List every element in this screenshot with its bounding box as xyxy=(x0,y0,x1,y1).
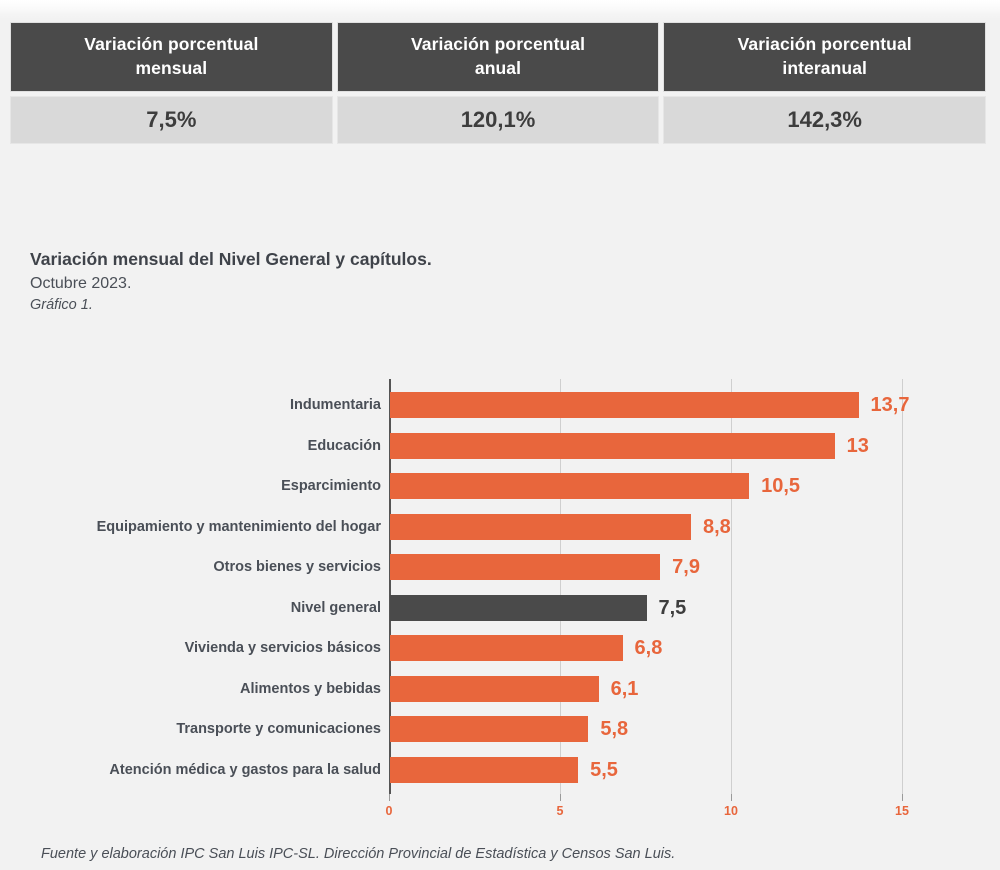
chart-bar-value-label: 10,5 xyxy=(761,476,800,496)
chart-bar xyxy=(390,757,578,783)
chart-bar-row: Vivienda y servicios básicos6,8 xyxy=(0,628,1000,669)
chart-bar-value-label: 7,5 xyxy=(659,598,687,618)
chart-bar-row: Esparcimiento10,5 xyxy=(0,466,1000,507)
summary-value-label: 7,5% xyxy=(146,107,196,133)
summary-header-cell-mensual: Variación porcentual mensual xyxy=(10,22,333,92)
chart-x-tick-label: 10 xyxy=(724,805,738,818)
chart-bar-row: Equipamiento y mantenimiento del hogar8,… xyxy=(0,507,1000,548)
summary-table: Variación porcentual mensual Variación p… xyxy=(10,22,986,144)
chart-x-axis: 051015 xyxy=(389,794,909,820)
chart-category-label: Nivel general xyxy=(0,601,381,616)
chart-bar-value-label: 8,8 xyxy=(703,517,731,537)
summary-table-header-row: Variación porcentual mensual Variación p… xyxy=(10,22,986,92)
chart-bar-value-label: 7,9 xyxy=(672,557,700,577)
chart-title: Variación mensual del Nivel General y ca… xyxy=(30,249,730,270)
chart-bar-value-label: 6,8 xyxy=(635,638,663,658)
chart-x-tick-mark xyxy=(560,794,561,801)
chart-bar xyxy=(390,392,859,418)
chart-bar-row: Alimentos y bebidas6,1 xyxy=(0,669,1000,710)
summary-header-label: Variación porcentual anual xyxy=(411,33,585,80)
chart-x-tick-label: 5 xyxy=(557,805,564,818)
chart-x-tick-label: 15 xyxy=(895,805,909,818)
chart-bar xyxy=(390,635,623,661)
chart-bar-row: Transporte y comunicaciones5,8 xyxy=(0,709,1000,750)
chart-heading: Variación mensual del Nivel General y ca… xyxy=(30,249,730,314)
chart-bar-value-label: 13 xyxy=(847,436,869,456)
chart-x-tick-mark xyxy=(389,794,390,801)
chart-x-tick-label: 0 xyxy=(386,805,393,818)
chart-bar-row: Atención médica y gastos para la salud5,… xyxy=(0,750,1000,791)
chart-bar xyxy=(390,676,599,702)
chart-bar-value-label: 6,1 xyxy=(611,679,639,699)
chart-x-tick-mark xyxy=(902,794,903,801)
summary-table-value-row: 7,5% 120,1% 142,3% xyxy=(10,96,986,144)
summary-header-label: Variación porcentual interanual xyxy=(738,33,912,80)
summary-value-cell-interanual: 142,3% xyxy=(663,96,986,144)
chart-bar xyxy=(390,514,691,540)
chart-bar xyxy=(390,554,660,580)
summary-value-cell-anual: 120,1% xyxy=(337,96,660,144)
summary-header-label: Variación porcentual mensual xyxy=(84,33,258,80)
chart-bar-row: Educación13 xyxy=(0,426,1000,467)
chart-bar xyxy=(390,433,835,459)
chart-bar-value-label: 5,8 xyxy=(600,719,628,739)
chart-x-tick-mark xyxy=(731,794,732,801)
chart-bar-row: Indumentaria13,7 xyxy=(0,385,1000,426)
chart-category-label: Esparcimiento xyxy=(0,479,381,494)
chart-category-label: Transporte y comunicaciones xyxy=(0,722,381,737)
summary-value-label: 142,3% xyxy=(787,107,862,133)
chart-bar-row: Nivel general7,5 xyxy=(0,588,1000,629)
chart-category-label: Vivienda y servicios básicos xyxy=(0,641,381,656)
summary-header-cell-interanual: Variación porcentual interanual xyxy=(663,22,986,92)
chart-category-label: Indumentaria xyxy=(0,398,381,413)
chart-figure-label: Gráfico 1. xyxy=(30,297,730,314)
chart-bar-value-label: 5,5 xyxy=(590,760,618,780)
summary-value-cell-mensual: 7,5% xyxy=(10,96,333,144)
page-top-gradient xyxy=(0,0,1000,20)
chart-subtitle: Octubre 2023. xyxy=(30,274,730,294)
chart-bar-value-label: 13,7 xyxy=(871,395,910,415)
chart-category-label: Educación xyxy=(0,439,381,454)
chart-category-label: Alimentos y bebidas xyxy=(0,682,381,697)
summary-value-label: 120,1% xyxy=(461,107,536,133)
chart-bar xyxy=(390,595,647,621)
summary-header-cell-anual: Variación porcentual anual xyxy=(337,22,660,92)
chart-category-label: Otros bienes y servicios xyxy=(0,560,381,575)
chart-bar-rows: Indumentaria13,7Educación13Esparcimiento… xyxy=(0,373,1000,783)
bar-chart: Indumentaria13,7Educación13Esparcimiento… xyxy=(0,373,1000,813)
chart-bar xyxy=(390,716,588,742)
chart-category-label: Atención médica y gastos para la salud xyxy=(0,763,381,778)
chart-bar-row: Otros bienes y servicios7,9 xyxy=(0,547,1000,588)
chart-category-label: Equipamiento y mantenimiento del hogar xyxy=(0,520,381,535)
source-note: Fuente y elaboración IPC San Luis IPC-SL… xyxy=(41,846,675,863)
chart-bar xyxy=(390,473,749,499)
